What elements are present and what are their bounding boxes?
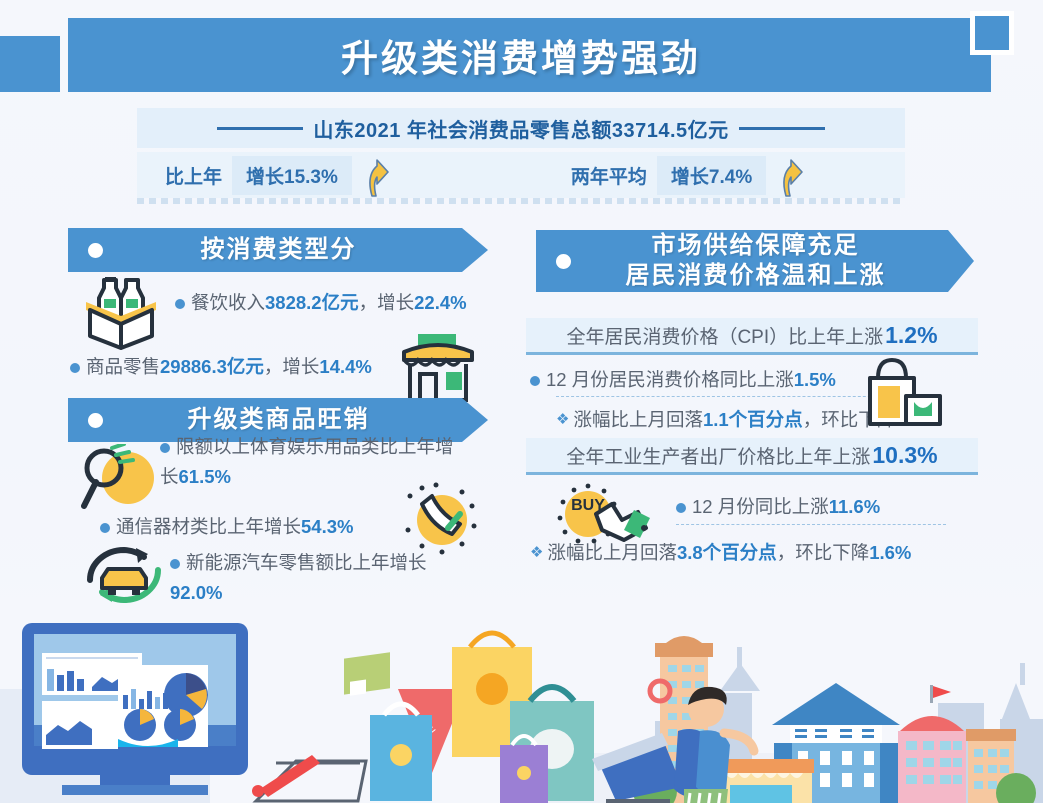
item-ppi-sub-prefix: 涨幅比上月回落 xyxy=(547,542,677,563)
section-header-market-supply: 市场供给保障充足 居民消费价格温和上涨 xyxy=(536,230,974,292)
band-ppi-annual: 全年工业生产者出厂价格比上年上涨10.3% xyxy=(526,438,978,475)
subtitle-rule-left xyxy=(217,127,303,130)
band-ppi-value: 10.3% xyxy=(872,442,937,469)
item-retail-sep: ，增长 xyxy=(264,356,320,377)
section-title-consume-type: 按消费类型分 xyxy=(103,235,488,265)
band-cpi-value: 1.2% xyxy=(885,322,937,349)
item-comm-label: 通信器材类比上年增长 xyxy=(116,516,301,537)
item-new-energy-vehicle: 新能源汽车零售额比上年增长92.0% xyxy=(170,548,470,608)
monitor-charts-icon xyxy=(22,623,248,795)
bullet-dot-icon xyxy=(170,559,180,569)
section-title-upgrade-goods: 升级类商品旺销 xyxy=(103,405,488,435)
item-cpi-sub-prefix: 涨幅比上月回落 xyxy=(573,409,703,430)
shopping-bag-icon xyxy=(862,356,948,433)
item-comm-rate: 54.3% xyxy=(301,516,353,537)
item-cpi-monthly-value: 1.5% xyxy=(794,369,836,390)
stat-2yr-value: 增长7.4% xyxy=(657,156,766,195)
divider-dashed-cpi xyxy=(556,396,896,397)
band-cpi-annual: 全年居民消费价格（CPI）比上年上涨1.2% xyxy=(526,318,978,355)
item-catering-label: 餐饮收入 xyxy=(191,292,265,313)
item-catering-revenue: 餐饮收入3828.2亿元，增长22.4% xyxy=(175,288,495,318)
market-title-line2: 居民消费价格温和上涨 xyxy=(626,262,886,289)
corner-accent-left xyxy=(0,36,60,92)
storefront-icon xyxy=(396,330,480,409)
item-cpi-monthly-label: 12 月份居民消费价格同比上涨 xyxy=(546,369,794,390)
stat-2yr-label: 两年平均 xyxy=(561,162,657,189)
band-cpi-text: 全年居民消费价格（CPI）比上年上涨 xyxy=(566,322,883,349)
item-nev-rate: 92.0% xyxy=(170,582,222,603)
band-ppi-text: 全年工业生产者出厂价格比上年上涨 xyxy=(566,442,870,469)
section-title-market-supply: 市场供给保障充足 居民消费价格温和上涨 xyxy=(571,231,974,291)
item-goods-retail: 商品零售29886.3亿元，增长14.4% xyxy=(70,352,400,382)
bottom-illustration: SALE xyxy=(0,603,1043,803)
item-ppi-sub-points: 3.8个百分点 xyxy=(677,542,777,563)
item-ppi-monthly-label: 12 月份同比上涨 xyxy=(692,496,829,517)
stat-yoy-value: 增长15.3% xyxy=(232,156,352,195)
bullet-dot-icon xyxy=(100,523,110,533)
subtitle-rule-right xyxy=(739,127,825,130)
item-sports-rate: 61.5% xyxy=(179,466,231,487)
corner-square-icon xyxy=(970,11,1014,55)
stat-2yr-avg: 两年平均 增长7.4% xyxy=(561,152,810,198)
item-catering-rate: 22.4% xyxy=(414,292,466,313)
item-catering-amount: 3828.2亿元 xyxy=(265,292,359,313)
diamond-bullet-icon: ❖ xyxy=(556,405,569,435)
market-title-line1: 市场供给保障充足 xyxy=(652,232,860,259)
stat-yoy-label: 比上年 xyxy=(155,162,232,189)
bullet-dot-icon xyxy=(160,443,170,453)
stats-row: 比上年 增长15.3% 两年平均 增长7.4% xyxy=(137,152,905,198)
bullet-dot-icon xyxy=(88,243,103,258)
bullet-dot-icon xyxy=(530,376,540,386)
page-header: 升级类消费增势强劲 xyxy=(68,18,974,92)
item-ppi-subnote: ❖涨幅比上月回落3.8个百分点，环比下降1.6% xyxy=(530,538,980,568)
subtitle-band: 山东2021 年社会消费品零售总额33714.5亿元 xyxy=(137,108,905,148)
up-arrow-icon xyxy=(772,152,810,198)
bullet-dot-icon xyxy=(175,299,185,309)
item-ppi-sub-mid: ，环比下降 xyxy=(777,542,870,563)
diamond-bullet-icon: ❖ xyxy=(530,538,543,568)
page-title: 升级类消费增势强劲 xyxy=(341,28,701,82)
bullet-dot-icon xyxy=(676,503,686,513)
item-cpi-monthly: 12 月份居民消费价格同比上涨1.5% xyxy=(530,365,870,395)
bullet-dot-icon xyxy=(70,363,80,373)
stat-yoy: 比上年 增长15.3% xyxy=(155,152,396,198)
divider-dashed xyxy=(137,198,905,204)
section-header-consume-type: 按消费类型分 xyxy=(68,228,488,272)
infographic-canvas: 升级类消费增势强劲 山东2021 年社会消费品零售总额33714.5亿元 比上年… xyxy=(0,0,1043,803)
up-arrow-icon xyxy=(358,152,396,198)
item-nev-label: 新能源汽车零售额比上年增长 xyxy=(186,552,427,573)
item-retail-rate: 14.4% xyxy=(319,356,371,377)
subtitle-text: 山东2021 年社会消费品零售总额33714.5亿元 xyxy=(313,114,728,143)
bullet-dot-icon xyxy=(88,413,103,428)
item-ppi-monthly: 12 月份同比上涨11.6% xyxy=(676,492,976,522)
bottle-box-icon xyxy=(76,272,166,357)
bullet-dot-icon xyxy=(556,254,571,269)
item-ppi-monthly-value: 11.6% xyxy=(829,496,880,517)
item-catering-sep: ，增长 xyxy=(359,292,415,313)
item-retail-amount: 29886.3亿元 xyxy=(160,356,264,377)
item-retail-label: 商品零售 xyxy=(86,356,160,377)
item-ppi-sub-value: 1.6% xyxy=(869,542,911,563)
item-cpi-sub-points: 1.1个百分点 xyxy=(703,409,803,430)
divider-dashed-ppi xyxy=(676,524,946,525)
